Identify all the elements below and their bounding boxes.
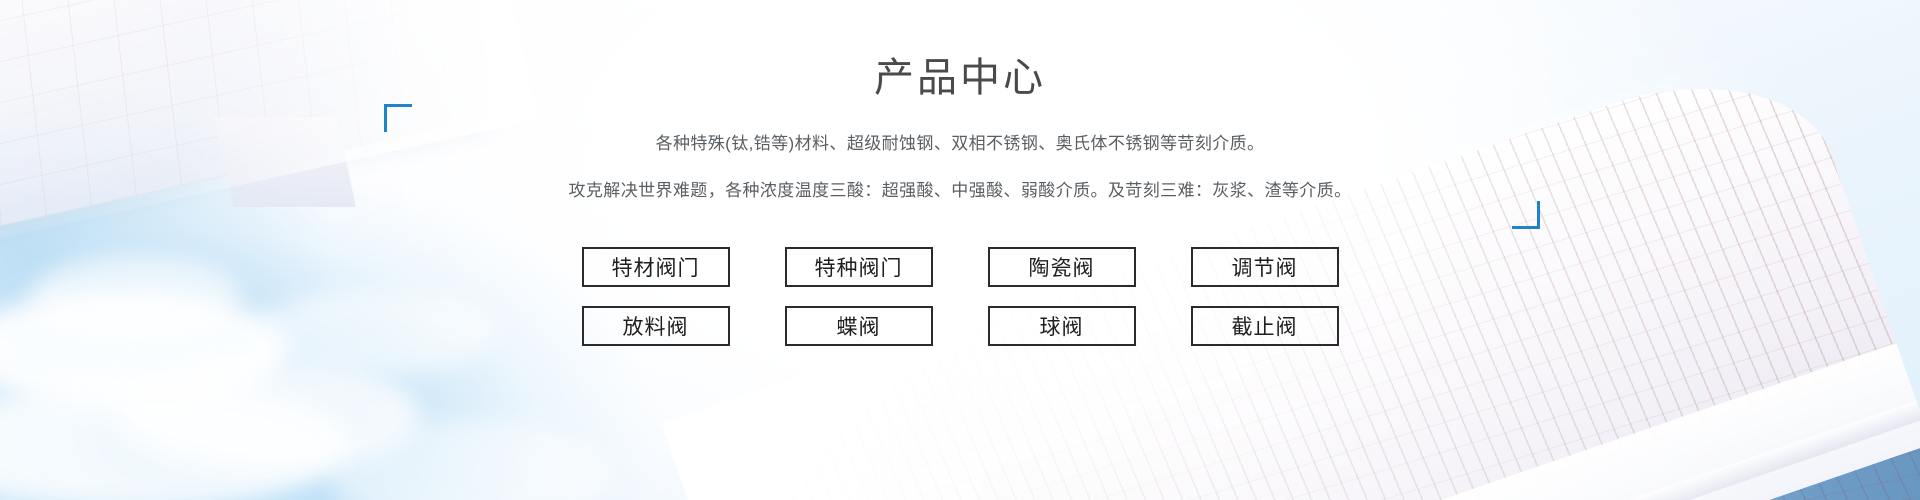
category-tag-control-valve[interactable]: 调节阀 bbox=[1191, 247, 1339, 287]
category-tag-tecai-valve[interactable]: 特材阀门 bbox=[582, 247, 730, 287]
category-tag-globe-valve[interactable]: 截止阀 bbox=[1191, 306, 1339, 346]
corner-bracket-top-left-icon bbox=[384, 104, 412, 132]
description-line-2: 攻克解决世界难题，各种浓度温度三酸：超强酸、中强酸、弱酸介质。及苛刻三难：灰浆、… bbox=[510, 178, 1410, 204]
product-category-list: 特材阀门 特种阀门 陶瓷阀 调节阀 放料阀 蝶阀 球阀 截止阀 bbox=[582, 247, 1339, 346]
category-tag-ceramic-valve[interactable]: 陶瓷阀 bbox=[988, 247, 1136, 287]
description-block: 各种特殊(钛,锆等)材料、超级耐蚀钢、双相不锈钢、奥氏体不锈钢等苛刻介质。 攻克… bbox=[510, 131, 1410, 205]
category-tag-butterfly-valve[interactable]: 蝶阀 bbox=[785, 306, 933, 346]
category-tag-ball-valve[interactable]: 球阀 bbox=[988, 306, 1136, 346]
category-tag-special-valve[interactable]: 特种阀门 bbox=[785, 247, 933, 287]
page-title: 产品中心 bbox=[874, 58, 1046, 98]
banner-content: 产品中心 各种特殊(钛,锆等)材料、超级耐蚀钢、双相不锈钢、奥氏体不锈钢等苛刻介… bbox=[0, 0, 1920, 500]
product-center-banner: 产品中心 各种特殊(钛,锆等)材料、超级耐蚀钢、双相不锈钢、奥氏体不锈钢等苛刻介… bbox=[0, 0, 1920, 500]
description-line-1: 各种特殊(钛,锆等)材料、超级耐蚀钢、双相不锈钢、奥氏体不锈钢等苛刻介质。 bbox=[510, 131, 1410, 157]
corner-bracket-bottom-right-icon bbox=[1512, 201, 1540, 229]
category-tag-discharge-valve[interactable]: 放料阀 bbox=[582, 306, 730, 346]
